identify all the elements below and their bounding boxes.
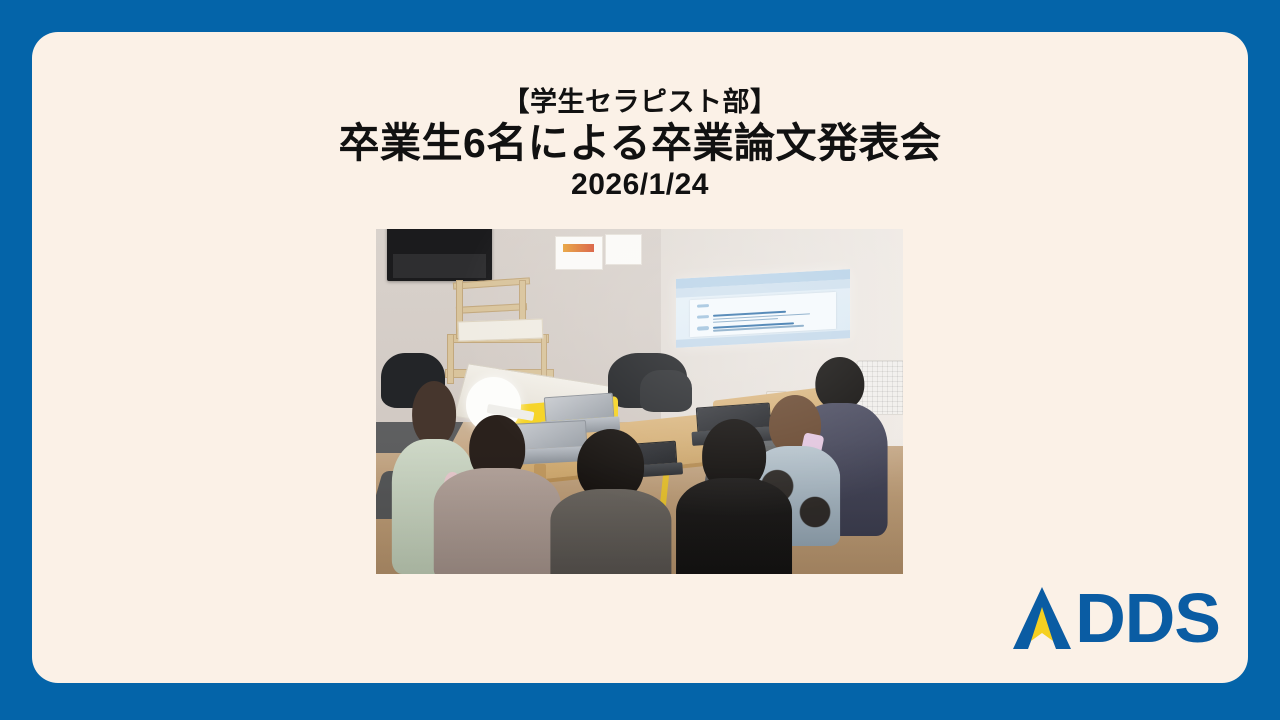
adds-wordmark: DDS [1075, 583, 1220, 653]
chair-seat [458, 318, 544, 341]
projector-screen-icon [676, 269, 850, 348]
adds-chevron-a-icon [1011, 585, 1073, 651]
content-card: 【学生セラピスト部】 卒業生6名による卒業論文発表会 2026/1/24 [32, 32, 1248, 683]
wall-poster-1 [555, 236, 602, 271]
title-block: 【学生セラピスト部】 卒業生6名による卒業論文発表会 2026/1/24 [32, 88, 1248, 201]
slide-root: 【学生セラピスト部】 卒業生6名による卒業論文発表会 2026/1/24 [0, 0, 1280, 720]
doc-bullet-icon [698, 315, 710, 319]
attendee [434, 415, 560, 574]
adds-logo: DDS [1011, 583, 1220, 653]
page-title: 卒業生6名による卒業論文発表会 [32, 122, 1248, 165]
attendee-body [434, 468, 560, 574]
wall-poster-2 [605, 234, 642, 265]
screen-document [690, 292, 836, 337]
title-line-date: 2026/1/24 [32, 169, 1248, 201]
attendee [550, 429, 671, 574]
wall-monitor [387, 229, 492, 281]
title-line-club: 【学生セラピスト部】 [32, 88, 1248, 117]
attendee [676, 419, 792, 574]
backpack [640, 370, 693, 411]
event-photo [376, 229, 903, 574]
chair-leg [447, 334, 454, 384]
doc-bullet-icon [698, 326, 710, 330]
attendee-body [676, 478, 792, 574]
doc-bullet-icon [698, 304, 710, 308]
chair-rail [456, 303, 528, 314]
photo-scene [376, 229, 903, 574]
attendee-body [550, 489, 671, 574]
